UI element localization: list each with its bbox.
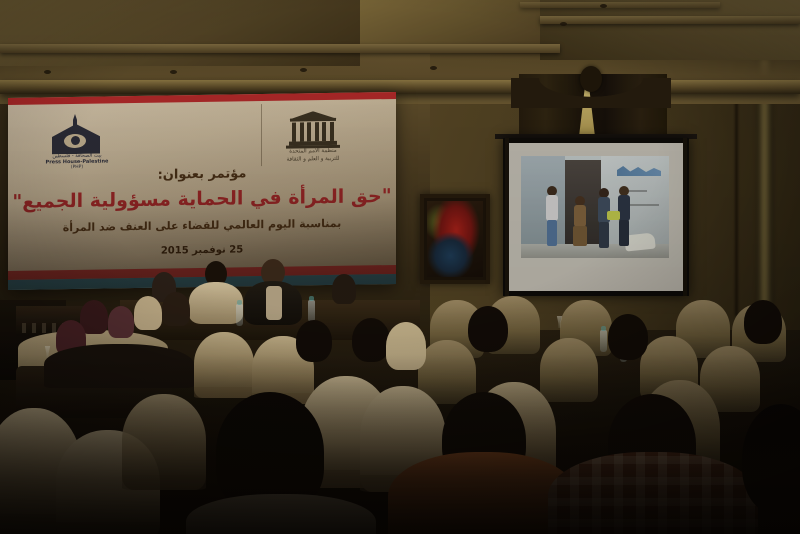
slide-woman-skirt [573, 226, 587, 246]
chair-foreground-6 [122, 394, 206, 490]
projection-screen [503, 138, 689, 296]
attendee-head-r1-3 [108, 306, 134, 338]
ceiling-light-2 [170, 70, 177, 74]
pelmet-skirt-right [511, 78, 671, 108]
ceiling-light-6 [600, 4, 607, 8]
slide-child-left-legs [547, 220, 557, 246]
panel-speaker-man-shirt [266, 286, 282, 320]
framed-painting [420, 194, 490, 284]
attendee-head-r2-6 [744, 300, 782, 344]
ceiling-light-5 [560, 22, 567, 26]
ceiling-cornice [0, 80, 800, 94]
attendee-plaid-shirt-body [548, 452, 758, 534]
unesco-arabic-line1: منظمة الأمم المتحدة [270, 148, 356, 155]
press-house-palestine-logo: بيت الصحافة - فلسطين Press House-Palesti… [44, 113, 110, 172]
banner-date: 25 نوفمبر 2015 [8, 242, 396, 259]
attendee-head-r2-5 [608, 314, 648, 360]
slide-seated-woman [571, 196, 589, 246]
slide-woman-body [574, 205, 586, 227]
conference-banner: بيت الصحافة - فلسطين Press House-Palesti… [8, 92, 396, 290]
unesco-arabic-line2: للتربية و العلم و الثقافة [270, 156, 356, 163]
panel-attendee-hijab-2 [332, 274, 356, 304]
unesco-logo: منظمة الأمم المتحدة للتربية و العلم و ال… [270, 107, 356, 172]
audience-bottle-1 [600, 330, 607, 352]
conference-hall-photo: بيت الصحافة - فلسطين Press House-Palesti… [0, 0, 800, 534]
panel-water-bottle-1 [308, 300, 315, 322]
attendee-head-r2-4 [468, 306, 508, 352]
slide-green-bag [607, 211, 620, 220]
banner-logo-divider [261, 104, 262, 166]
banner-subtitle: بمناسبة اليوم العالمي للقضاء على العنف ض… [8, 216, 396, 235]
chair-sash [56, 522, 160, 534]
ceiling-light-3 [300, 68, 307, 72]
attendee-shoulders-r1 [44, 344, 194, 388]
ceiling-panel-right [540, 0, 800, 60]
banner-title: "حق المرأة في الحماية مسؤولية الجميع" [8, 185, 396, 213]
temple-columns-icon [292, 122, 334, 142]
ceiling-beam-upper [0, 44, 560, 53]
screen-leg-left [505, 138, 509, 296]
slide-child-middle-legs [599, 222, 609, 248]
eye-pupil-icon [71, 136, 80, 145]
attendee-head-r2-3 [386, 322, 426, 370]
panel-speaker-woman [189, 282, 243, 324]
chair-row2-1 [194, 332, 254, 398]
attendee-head-r2-1 [296, 320, 332, 362]
ceiling-panel-left [0, 0, 360, 66]
door-frame-line [735, 86, 738, 316]
ceiling-light-4 [430, 66, 437, 70]
unesco-temple-icon [289, 111, 337, 146]
chair-row2-4 [540, 338, 598, 402]
attendee-head-r2-2 [352, 318, 390, 362]
slide-child-left [543, 186, 561, 248]
panel-water-bottle-2 [236, 304, 243, 326]
chair-sash [122, 475, 206, 490]
ceiling-beam-recess [520, 2, 720, 8]
attendee-head-r1-4 [134, 296, 162, 330]
window-pelmet-right [511, 66, 671, 114]
ceiling-beam-right [540, 16, 800, 24]
projected-slide [521, 156, 669, 258]
slide-child-right-legs [619, 220, 629, 246]
screen-leg-right [683, 138, 687, 296]
chair-sash [194, 387, 254, 398]
ceiling-light-1 [44, 70, 51, 74]
slide-child-left-body [546, 195, 558, 221]
attendee-head-r1-5 [162, 292, 190, 326]
